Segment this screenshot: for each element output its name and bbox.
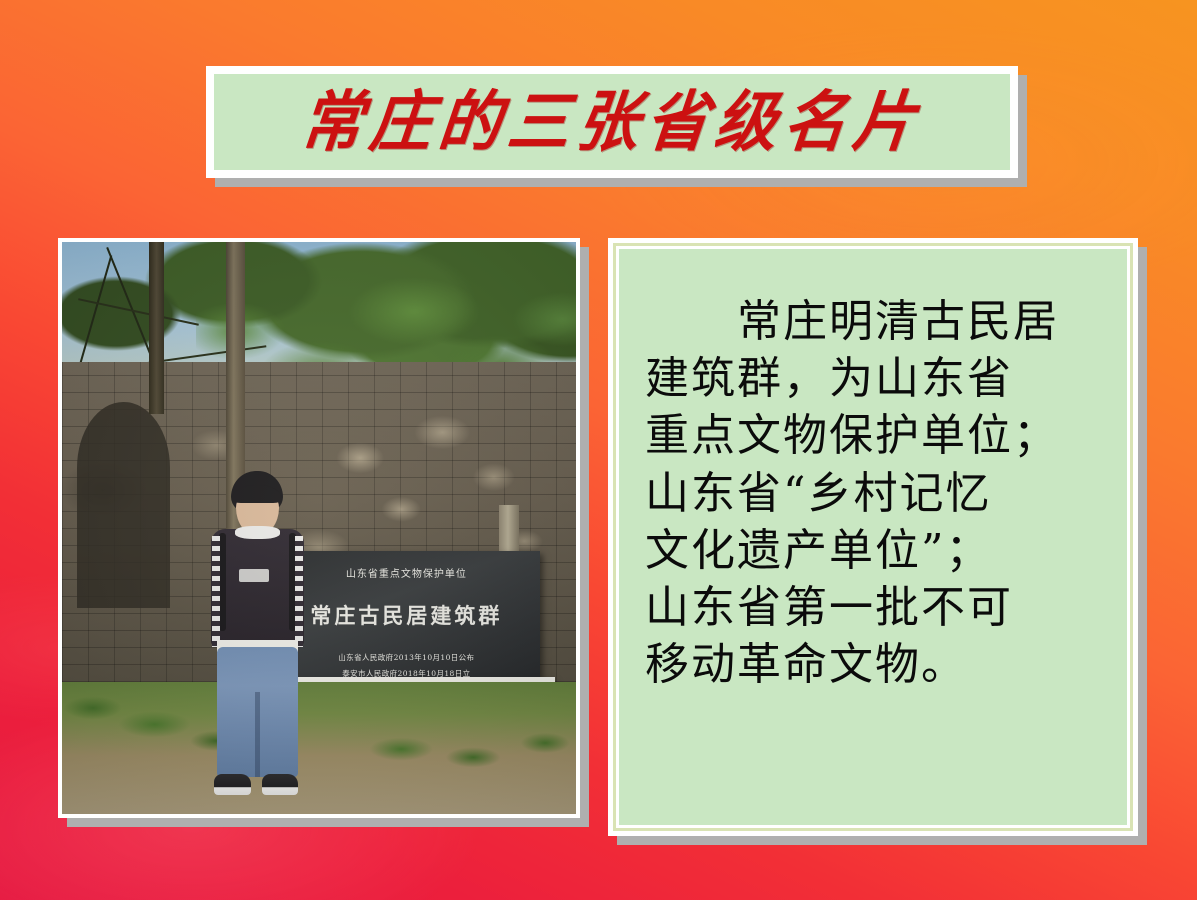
tree-trunk	[149, 242, 163, 414]
description-plaque-mat: 常庄明清古民居 建筑群，为山东省 重点文物保护单位； 山东省“乡村记忆 文化遗产…	[613, 243, 1133, 831]
standing-person	[201, 471, 314, 797]
title-plaque: 常庄的三张省级名片	[206, 66, 1018, 178]
photo-plaque: 山东省重点文物保护单位 常庄古民居建筑群 山东省人民政府2013年10月10日公…	[58, 238, 580, 818]
wall-archway	[77, 402, 170, 608]
monument-photograph: 山东省重点文物保护单位 常庄古民居建筑群 山东省人民政府2013年10月10日公…	[62, 242, 576, 814]
weeds-foliage	[62, 677, 576, 780]
person-shoe	[214, 774, 250, 795]
slide-canvas: 常庄的三张省级名片 山东省重点文物保护单位 常庄古民居建筑群 山东省人民政府	[0, 0, 1197, 900]
person-fringe	[232, 485, 282, 503]
description-plaque: 常庄明清古民居 建筑群，为山东省 重点文物保护单位； 山东省“乡村记忆 文化遗产…	[608, 238, 1138, 836]
description-plaque-inner: 常庄明清古民居 建筑群，为山东省 重点文物保护单位； 山东省“乡村记忆 文化遗产…	[616, 246, 1130, 828]
jacket-chest-logo	[239, 569, 268, 582]
person-shoe	[262, 774, 298, 795]
description-text: 常庄明清古民居 建筑群，为山东省 重点文物保护单位； 山东省“乡村记忆 文化遗产…	[645, 293, 1101, 693]
shirt-collar	[235, 526, 280, 539]
sleeve-stripe	[212, 536, 220, 647]
sleeve-stripe	[295, 536, 303, 647]
jeans-inseam	[255, 692, 260, 777]
title-plaque-inner: 常庄的三张省级名片	[211, 71, 1013, 173]
page-title: 常庄的三张省级名片	[298, 89, 926, 155]
